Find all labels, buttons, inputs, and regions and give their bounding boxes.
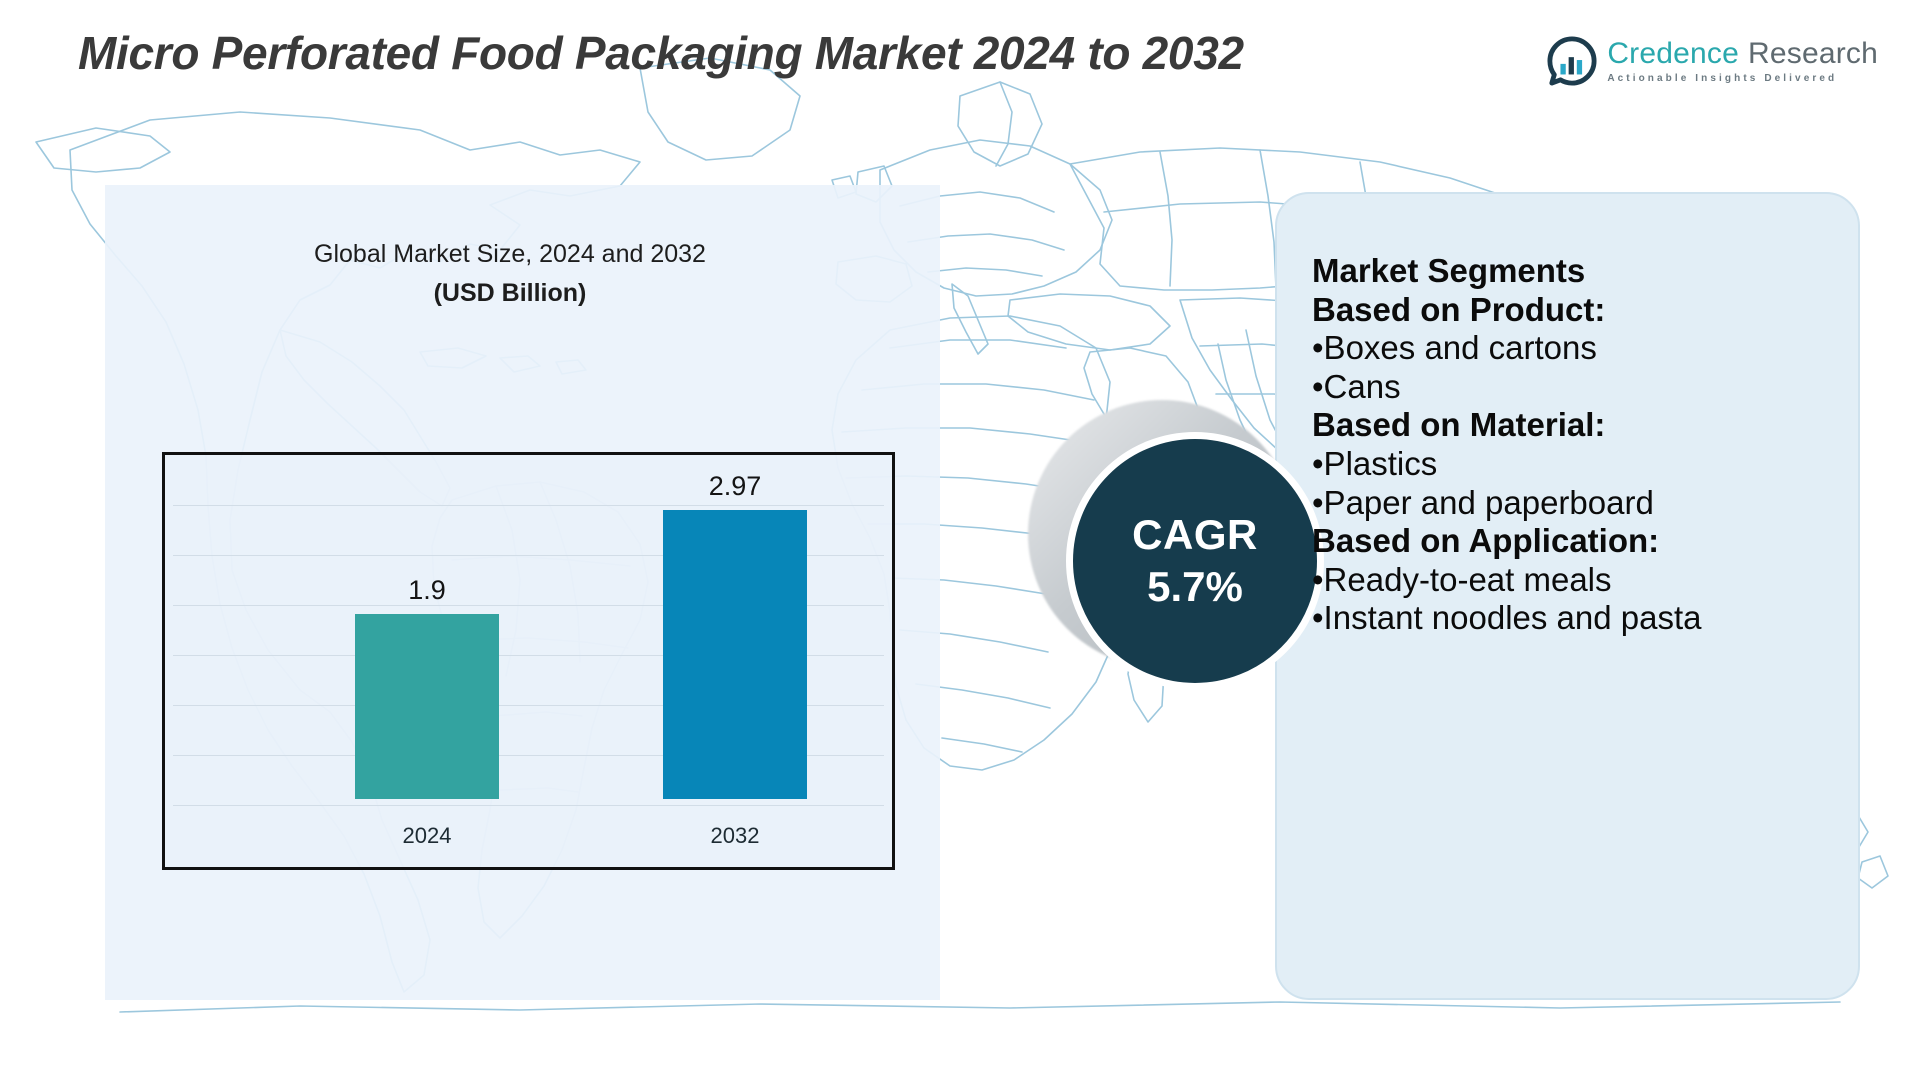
bar-chart: 1.92.97 20242032	[162, 452, 895, 870]
logo-text: Credence Research Actionable Insights De…	[1607, 39, 1878, 84]
chart-subtitle: (USD Billion)	[150, 279, 870, 308]
segment-list-item: •Ready-to-eat meals	[1312, 561, 1832, 600]
gridline	[173, 805, 884, 806]
segment-list-item: •Paper and paperboard	[1312, 484, 1832, 523]
chart-plot-area: 1.92.97	[165, 455, 892, 799]
segment-group-heading-0: Based on Product:	[1312, 291, 1832, 330]
bar-chart-bubble-icon	[1547, 36, 1597, 86]
segment-group-heading-1: Based on Material:	[1312, 406, 1832, 445]
logo-word-credence: Credence	[1607, 39, 1739, 69]
logo-wordmark: Credence Research	[1607, 39, 1878, 69]
market-segments-list: Market SegmentsBased on Product:•Boxes a…	[1312, 252, 1832, 638]
logo-word-research: Research	[1748, 39, 1878, 69]
bar-value-label-2032: 2.97	[645, 471, 825, 502]
cagr-label: CAGR	[1132, 511, 1258, 559]
segment-list-item: •Instant noodles and pasta	[1312, 599, 1832, 638]
page-title: Micro Perforated Food Packaging Market 2…	[78, 24, 1548, 83]
segment-list-item: •Boxes and cartons	[1312, 329, 1832, 368]
segments-title: Market Segments	[1312, 252, 1832, 291]
x-axis-label-2032: 2032	[645, 823, 825, 849]
cagr-circle: CAGR 5.7%	[1066, 432, 1324, 690]
logo-tagline: Actionable Insights Delivered	[1607, 74, 1878, 84]
brand-logo: Credence Research Actionable Insights De…	[1547, 36, 1878, 86]
segment-list-item: •Plastics	[1312, 445, 1832, 484]
segment-group-heading-2: Based on Application:	[1312, 522, 1832, 561]
chart-title: Global Market Size, 2024 and 2032	[150, 240, 870, 269]
bar-value-label-2024: 1.9	[337, 575, 517, 606]
cagr-badge: CAGR 5.7%	[1028, 400, 1328, 700]
bar-2032	[663, 510, 807, 799]
segment-list-item: •Cans	[1312, 368, 1832, 407]
bar-2024	[355, 614, 499, 799]
chart-heading: Global Market Size, 2024 and 2032 (USD B…	[150, 240, 870, 308]
x-axis-label-2024: 2024	[337, 823, 517, 849]
cagr-value: 5.7%	[1147, 563, 1243, 611]
